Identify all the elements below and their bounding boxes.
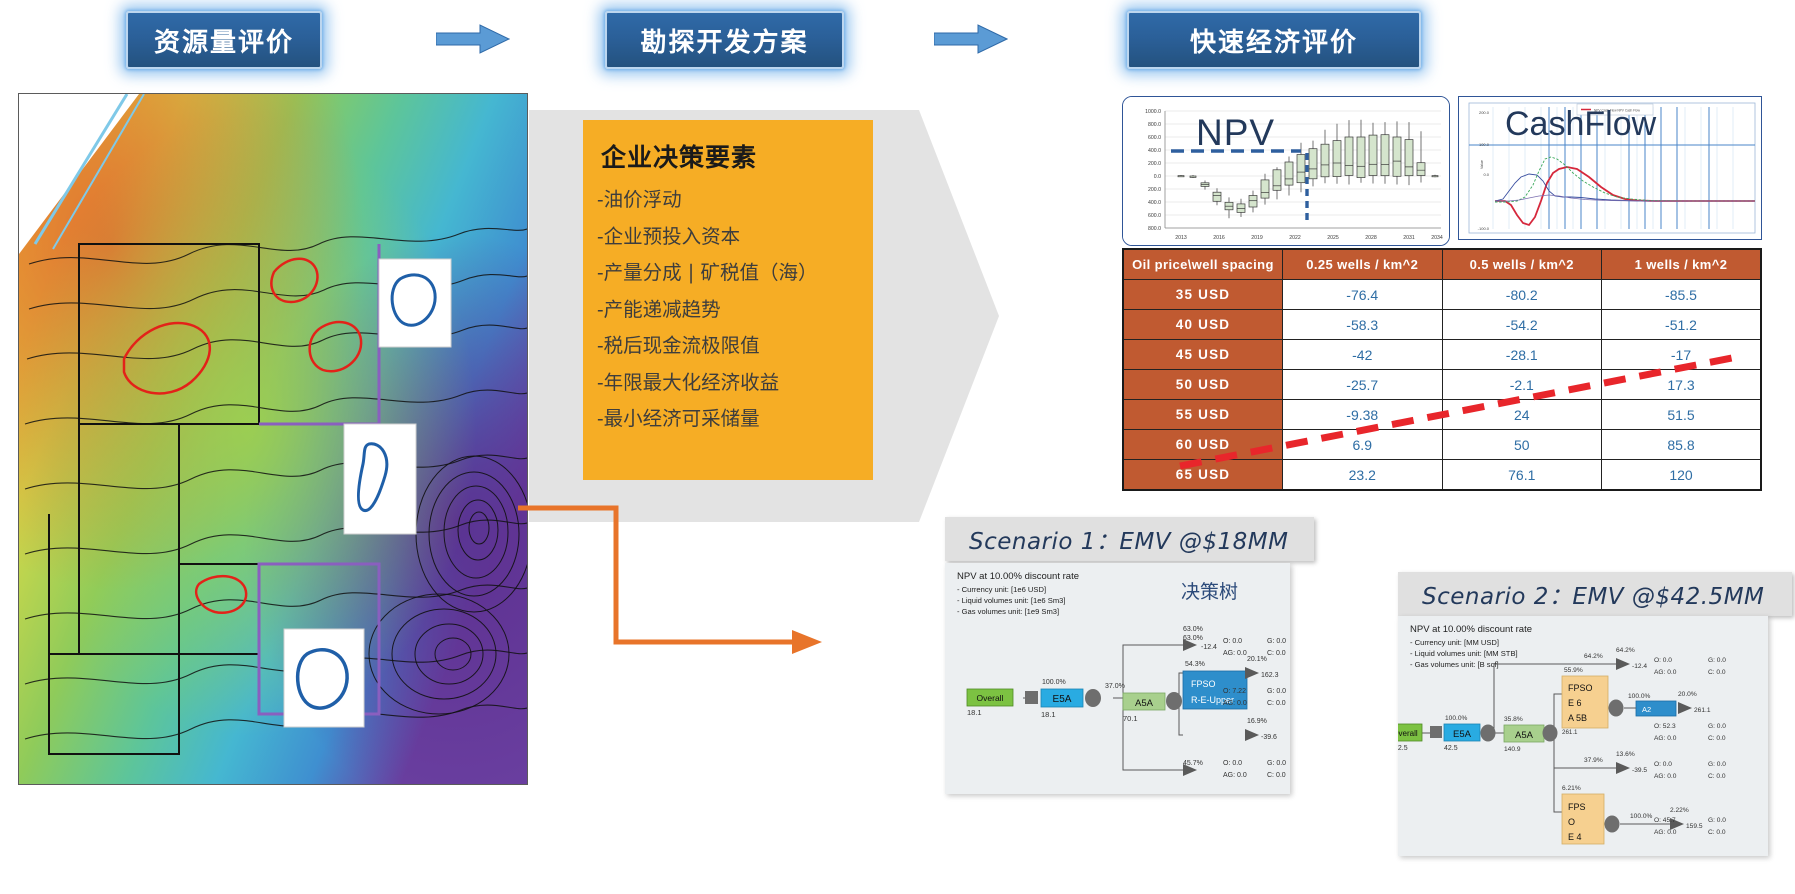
svg-text:37.0%: 37.0% (1105, 683, 1125, 690)
svg-text:2031: 2031 (1403, 235, 1415, 241)
svg-text:E 6: E 6 (1568, 698, 1582, 708)
svg-text:-39.5: -39.5 (1632, 767, 1647, 774)
svg-text:AG: 0.0: AG: 0.0 (1654, 829, 1677, 836)
svg-text:800.0: 800.0 (1148, 226, 1161, 232)
arrow-right-icon (934, 24, 1008, 54)
svg-text:O: O (1568, 817, 1575, 827)
table-row: 65 USD 23.2 76.1 120 (1123, 460, 1761, 491)
decision-factor-item: -产能递减趋势 (597, 292, 873, 329)
table-row: 60 USD 6.9 50 85.8 (1123, 430, 1761, 460)
table-row: 40 USD -58.3 -54.2 -51.2 (1123, 310, 1761, 340)
svg-text:63.0%: 63.0% (1183, 626, 1203, 633)
table-cell: -80.2 (1442, 280, 1602, 310)
svg-text:O: 0.0: O: 0.0 (1654, 657, 1672, 664)
svg-text:Value: Value (1480, 160, 1484, 169)
scenario-2-tree-svg: Overall 42.5 E5A 42.5 100.0% A5A 140.9 3… (1398, 616, 1768, 856)
svg-text:AG: 0.0: AG: 0.0 (1223, 772, 1247, 779)
svg-text:C: 0.0: C: 0.0 (1267, 700, 1286, 707)
table-cell: 17.3 (1602, 370, 1762, 400)
decision-factor-item: -企业预投入资本 (597, 219, 873, 256)
svg-text:E 4: E 4 (1568, 832, 1582, 842)
table-row: 45 USD -42 -28.1 -17 (1123, 340, 1761, 370)
table-cell: -85.5 (1602, 280, 1762, 310)
svg-text:A5A: A5A (1515, 730, 1534, 741)
svg-text:261.1: 261.1 (1694, 707, 1711, 714)
table-cell: -17 (1602, 340, 1762, 370)
process-flow-banner: 资源量评价 勘探开发方案 快速经济评价 (0, 0, 1795, 82)
svg-text:2019: 2019 (1251, 235, 1263, 241)
svg-text:A2: A2 (1642, 705, 1651, 714)
map-canvas (19, 94, 527, 784)
table-cell: 23.2 (1283, 460, 1443, 491)
svg-text:C: 0.0: C: 0.0 (1267, 772, 1286, 779)
decision-factor-item: -税后现金流极限值 (597, 328, 873, 365)
column-header-oil-price: Oil price\well spacing (1123, 249, 1283, 280)
decision-factor-item: -产量分成 | 矿税值（海） (597, 255, 873, 292)
svg-text:2034: 2034 (1431, 235, 1443, 241)
svg-text:1000.0: 1000.0 (1145, 109, 1161, 115)
svg-text:O: 0.0: O: 0.0 (1223, 638, 1242, 645)
arrow-right-icon (436, 24, 510, 54)
table-header-row: Oil price\well spacing 0.25 wells / km^2… (1123, 249, 1761, 280)
svg-text:0.0: 0.0 (1154, 174, 1161, 180)
svg-text:55.9%: 55.9% (1564, 667, 1583, 674)
npv-boxplot-chart[interactable]: 1000.0800.0 600.0400.0 200.00.0 200.0400… (1122, 96, 1450, 246)
svg-text:C: 0.0: C: 0.0 (1708, 829, 1726, 836)
svg-text:O: 45.7: O: 45.7 (1654, 817, 1676, 824)
scenario-1-title: Scenario 1：EMV @$18MM (969, 522, 1288, 556)
svg-text:2016: 2016 (1213, 235, 1225, 241)
svg-text:37.9%: 37.9% (1584, 757, 1603, 764)
svg-text:G: 0.0: G: 0.0 (1267, 688, 1286, 695)
scenario-1-tree-panel[interactable]: NPV at 10.00% discount rate - Currency u… (945, 563, 1290, 794)
decision-factor-item: -油价浮动 (597, 182, 873, 219)
svg-text:200.0: 200.0 (1479, 110, 1490, 115)
svg-text:0.0: 0.0 (1483, 172, 1489, 177)
scenario-2-header: Scenario 2：EMV @$42.5MM (1398, 572, 1792, 616)
svg-text:18.1: 18.1 (1041, 710, 1056, 719)
table-cell: -51.2 (1602, 310, 1762, 340)
svg-text:140.9: 140.9 (1504, 746, 1521, 753)
svg-text:2022: 2022 (1289, 235, 1301, 241)
table-cell: 120 (1602, 460, 1762, 491)
svg-text:600.0: 600.0 (1148, 213, 1161, 219)
flow-step-1[interactable]: 资源量评价 (126, 11, 322, 69)
row-label: 35 USD (1123, 280, 1283, 310)
svg-text:162.3: 162.3 (1261, 672, 1279, 679)
svg-text:O: 0.0: O: 0.0 (1223, 760, 1242, 767)
row-label: 50 USD (1123, 370, 1283, 400)
svg-text:6.21%: 6.21% (1562, 785, 1581, 792)
svg-text:Overall: Overall (977, 693, 1004, 703)
svg-text:600.0: 600.0 (1148, 135, 1161, 141)
svg-text:261.1: 261.1 (1562, 729, 1578, 736)
svg-text:-12.4: -12.4 (1201, 644, 1217, 651)
svg-text:G: 0.0: G: 0.0 (1708, 723, 1726, 730)
table-row: 55 USD -9.38 24 51.5 (1123, 400, 1761, 430)
flow-step-2-label: 勘探开发方案 (640, 22, 808, 59)
row-label: 65 USD (1123, 460, 1283, 491)
table-cell: -76.4 (1283, 280, 1443, 310)
flow-step-3[interactable]: 快速经济评价 (1127, 11, 1421, 69)
table-cell: 85.8 (1602, 430, 1762, 460)
svg-text:18.1: 18.1 (967, 708, 982, 717)
svg-text:G: 0.0: G: 0.0 (1267, 760, 1286, 767)
svg-text:20.1%: 20.1% (1247, 656, 1267, 663)
table-cell: -42 (1283, 340, 1443, 370)
column-header-spacing-1: 1 wells / km^2 (1602, 249, 1762, 280)
svg-text:2013: 2013 (1175, 235, 1187, 241)
svg-text:NPV Cash Flow NPV Cash Flo: NPV Cash Flow NPV Cash Flow (1594, 109, 1641, 113)
row-label: 40 USD (1123, 310, 1283, 340)
scenario-2-title: Scenario 2：EMV @$42.5MM (1422, 577, 1764, 611)
svg-text:35.8%: 35.8% (1504, 716, 1523, 723)
cashflow-chart-svg: NPV Cash Flow NPV Cash Flow 200.0100.0 0… (1459, 97, 1761, 239)
table-cell: 76.1 (1442, 460, 1602, 491)
decision-factor-item: -年限最大化经济收益 (597, 365, 873, 402)
svg-text:AG: 0.0: AG: 0.0 (1654, 669, 1677, 676)
svg-text:-12.4: -12.4 (1632, 663, 1647, 670)
svg-text:C: 0.0: C: 0.0 (1708, 735, 1726, 742)
decision-factors-title: 企业决策要素 (583, 120, 873, 176)
npv-chart-svg: 1000.0800.0 600.0400.0 200.00.0 200.0400… (1123, 97, 1449, 245)
scenario-2-tree-panel[interactable]: NPV at 10.00% discount rate - Currency u… (1398, 616, 1768, 856)
row-label: 60 USD (1123, 430, 1283, 460)
svg-text:A 5B: A 5B (1568, 713, 1587, 723)
flow-step-2[interactable]: 勘探开发方案 (605, 11, 844, 69)
scenario-1-header: Scenario 1：EMV @$18MM (945, 517, 1314, 561)
row-label: 55 USD (1123, 400, 1283, 430)
svg-text:2025: 2025 (1327, 235, 1339, 241)
svg-text:FPSO: FPSO (1568, 683, 1593, 693)
svg-text:FPSO: FPSO (1191, 679, 1216, 689)
svg-text:200.0: 200.0 (1148, 161, 1161, 167)
cashflow-chart[interactable]: NPV Cash Flow NPV Cash Flow 200.0100.0 0… (1458, 96, 1762, 240)
decision-factors-list: -油价浮动 -企业预投入资本 -产量分成 | 矿税值（海） -产能递减趋势 -税… (583, 176, 873, 438)
svg-text:64.2%: 64.2% (1584, 653, 1603, 660)
decision-factors-panel: 企业决策要素 -油价浮动 -企业预投入资本 -产量分成 | 矿税值（海） -产能… (583, 120, 873, 480)
svg-text:O: 52.3: O: 52.3 (1654, 723, 1676, 730)
svg-text:AG: 0.0: AG: 0.0 (1223, 700, 1247, 707)
svg-text:400.0: 400.0 (1148, 148, 1161, 154)
svg-text:100.0%: 100.0% (1630, 813, 1653, 820)
svg-text:AG: 0.0: AG: 0.0 (1654, 735, 1677, 742)
resource-map[interactable] (18, 93, 528, 785)
table-cell: 24 (1442, 400, 1602, 430)
svg-text:159.5: 159.5 (1686, 823, 1703, 830)
svg-text:20.0%: 20.0% (1678, 691, 1697, 698)
svg-text:100.0: 100.0 (1479, 142, 1490, 147)
svg-text:400.0: 400.0 (1148, 200, 1161, 206)
table-cell: 51.5 (1602, 400, 1762, 430)
table-cell: -58.3 (1283, 310, 1443, 340)
connector-arrow-icon (500, 490, 840, 680)
economics-sensitivity-table[interactable]: Oil price\well spacing 0.25 wells / km^2… (1122, 248, 1762, 491)
table-row: 50 USD -25.7 -2.1 17.3 (1123, 370, 1761, 400)
svg-text:70.1: 70.1 (1123, 714, 1138, 723)
table-cell: -2.1 (1442, 370, 1602, 400)
scenario-1-tree-svg: Overall 18.1 E5A 18.1 100.0% A5A 70.1 37… (945, 563, 1290, 794)
svg-text:E5A: E5A (1453, 729, 1472, 740)
table-cell: -54.2 (1442, 310, 1602, 340)
svg-text:G: 0.0: G: 0.0 (1708, 817, 1726, 824)
svg-text:2.22%: 2.22% (1670, 807, 1689, 814)
column-header-spacing-05: 0.5 wells / km^2 (1442, 249, 1602, 280)
svg-text:C: 0.0: C: 0.0 (1708, 669, 1726, 676)
table-row: 35 USD -76.4 -80.2 -85.5 (1123, 280, 1761, 310)
svg-text:AG: 0.0: AG: 0.0 (1654, 773, 1677, 780)
svg-text:13.6%: 13.6% (1616, 751, 1635, 758)
svg-text:42.5: 42.5 (1398, 745, 1408, 752)
svg-text:2028: 2028 (1365, 235, 1377, 241)
table-cell: -28.1 (1442, 340, 1602, 370)
svg-text:O: 7.22: O: 7.22 (1223, 688, 1246, 695)
svg-text:100.0%: 100.0% (1042, 679, 1066, 686)
svg-text:64.2%: 64.2% (1616, 647, 1635, 654)
decision-factor-item: -最小经济可采储量 (597, 401, 873, 438)
svg-text:Overall: Overall (1398, 729, 1418, 738)
svg-text:54.3%: 54.3% (1185, 661, 1205, 668)
svg-text:800.0: 800.0 (1148, 122, 1161, 128)
svg-text:O: 0.0: O: 0.0 (1654, 761, 1672, 768)
svg-text:42.5: 42.5 (1444, 745, 1458, 752)
table-cell: -9.38 (1283, 400, 1443, 430)
svg-text:-100.0: -100.0 (1478, 226, 1490, 231)
svg-text:E5A: E5A (1053, 694, 1072, 705)
svg-text:A5A: A5A (1135, 698, 1154, 709)
table-cell: -25.7 (1283, 370, 1443, 400)
svg-text:G: 0.0: G: 0.0 (1708, 657, 1726, 664)
column-header-spacing-025: 0.25 wells / km^2 (1283, 249, 1443, 280)
table-cell: 6.9 (1283, 430, 1443, 460)
svg-text:-39.6: -39.6 (1261, 734, 1277, 741)
svg-text:16.9%: 16.9% (1247, 718, 1267, 725)
svg-text:FPS: FPS (1568, 802, 1586, 812)
svg-text:200.0: 200.0 (1148, 187, 1161, 193)
svg-text:C: 0.0: C: 0.0 (1267, 650, 1286, 657)
svg-text:100.0%: 100.0% (1445, 715, 1468, 722)
row-label: 45 USD (1123, 340, 1283, 370)
svg-text:AG: 0.0: AG: 0.0 (1223, 650, 1247, 657)
flow-step-3-label: 快速经济评价 (1190, 22, 1358, 59)
table-cell: 50 (1442, 430, 1602, 460)
svg-text:G: 0.0: G: 0.0 (1267, 638, 1286, 645)
svg-text:100.0%: 100.0% (1628, 693, 1651, 700)
flow-step-1-label: 资源量评价 (154, 22, 294, 59)
svg-text:C: 0.0: C: 0.0 (1708, 773, 1726, 780)
svg-text:G: 0.0: G: 0.0 (1708, 761, 1726, 768)
